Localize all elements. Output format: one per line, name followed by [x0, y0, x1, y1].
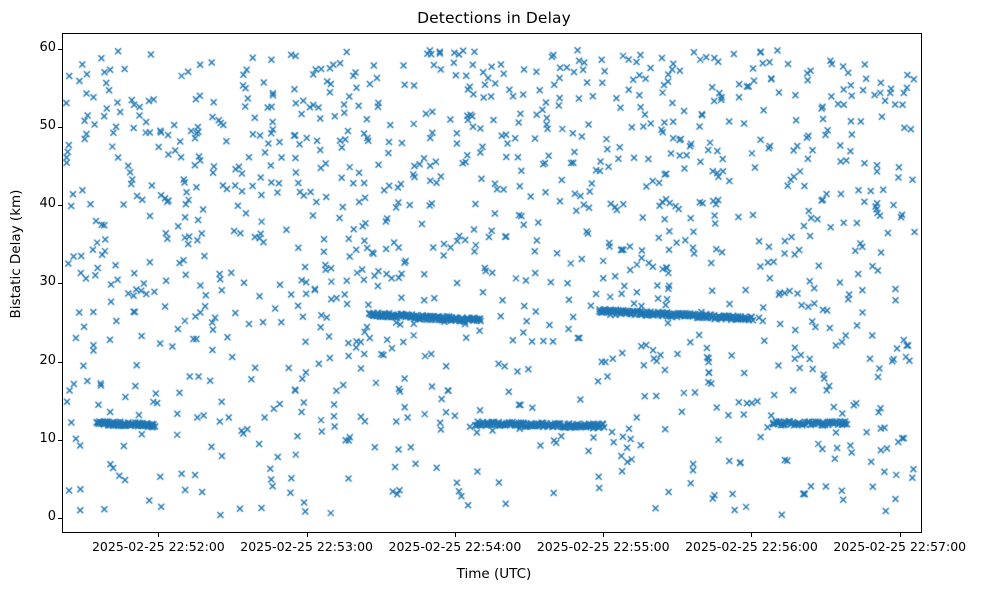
y-tick-label: 0 — [16, 509, 56, 524]
y-tick-mark — [58, 205, 62, 206]
y-tick-mark — [58, 362, 62, 363]
x-tick-mark — [603, 533, 604, 537]
y-tick-mark — [58, 49, 62, 50]
y-tick-mark — [58, 127, 62, 128]
y-axis-label: Bistatic Delay (km) — [8, 4, 24, 504]
x-tick-mark — [751, 533, 752, 537]
x-tick-mark — [900, 533, 901, 537]
scatter-plot-canvas — [63, 34, 922, 533]
x-tick-label: 2025-02-25 22:52:00 — [78, 539, 238, 554]
x-tick-label: 2025-02-25 22:55:00 — [523, 539, 683, 554]
x-tick-mark — [455, 533, 456, 537]
x-tick-label: 2025-02-25 22:56:00 — [671, 539, 831, 554]
page-title: Detections in Delay — [0, 9, 988, 27]
plot-axes-area — [62, 33, 922, 533]
x-tick-label: 2025-02-25 22:57:00 — [820, 539, 980, 554]
y-tick-mark — [58, 283, 62, 284]
y-tick-mark — [58, 518, 62, 519]
x-axis-label: Time (UTC) — [0, 566, 988, 582]
x-tick-mark — [307, 533, 308, 537]
x-tick-label: 2025-02-25 22:54:00 — [375, 539, 535, 554]
y-tick-mark — [58, 440, 62, 441]
matplotlib-figure: Detections in Delay 0102030405060 2025-0… — [0, 0, 988, 590]
x-tick-label: 2025-02-25 22:53:00 — [227, 539, 387, 554]
x-tick-mark — [158, 533, 159, 537]
